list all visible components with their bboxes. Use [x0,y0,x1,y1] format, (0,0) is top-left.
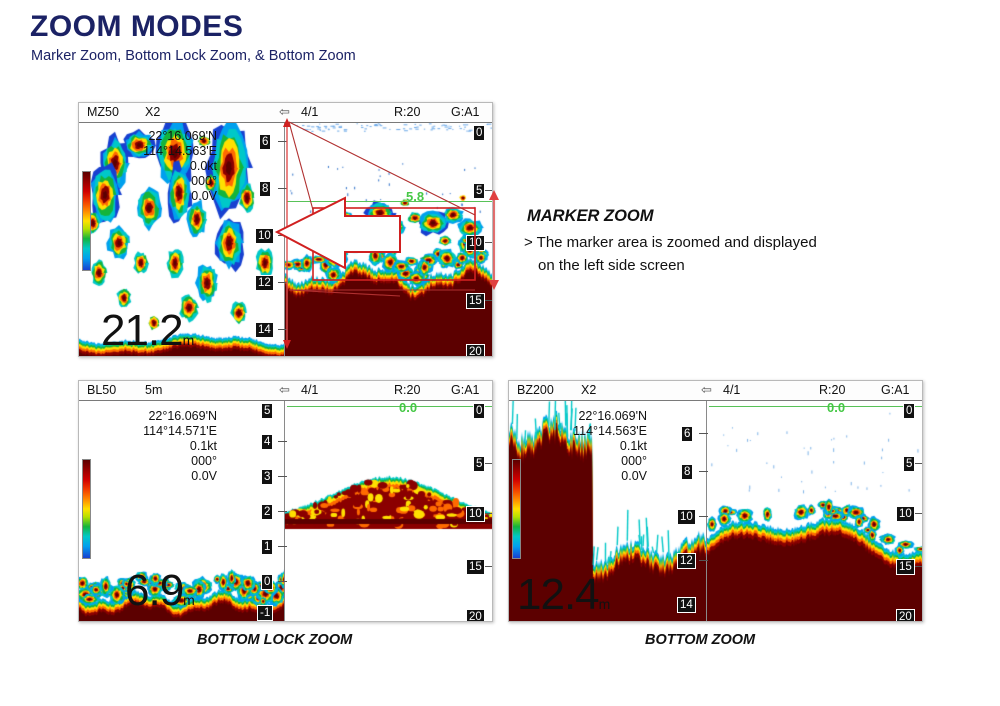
heading-value: 000° [97,174,217,189]
scale-label: -1 [257,605,273,621]
range-label: R:20 [394,105,420,119]
depth-value: 12.4 [517,570,599,619]
scale-label: 2 [261,504,273,520]
unit-header: MZ50 X2 ⇦ 4/1 R:20 G:A1 [79,103,492,123]
gain-label: G:A1 [451,105,480,119]
scale-label: 20 [896,609,915,622]
split-label: 4/1 [301,105,318,119]
scale-label: 0 [473,125,485,141]
depth-readout: 12.4m [517,573,609,622]
depth-unit: m [183,592,194,608]
latitude-value: 22°16.069'N [97,409,217,424]
left-arrow-icon[interactable]: ⇦ [279,104,290,120]
zoom-label: X2 [581,383,596,397]
normal-pane[interactable] [284,123,492,356]
scale-label: 0 [473,403,485,419]
echogram-normal[interactable] [707,401,922,621]
longitude-value: 114°14.563'E [527,424,647,439]
scale-label: 12 [677,553,696,569]
normal-pane[interactable] [706,401,922,621]
speed-value: 0.1kt [527,439,647,454]
left-arrow-icon[interactable]: ⇦ [279,382,290,398]
scale-label: 5 [473,183,485,199]
unit-panes: 22°16.069'N 114°14.563'E 0.1kt 000° 0.0V… [509,401,922,621]
scale-label: 14 [255,322,274,338]
split-label: 4/1 [301,383,318,397]
scale-label: 20 [466,344,485,357]
zoom-label: X2 [145,105,160,119]
echogram-normal[interactable] [285,401,492,621]
marker-value: 0.0 [827,400,845,415]
depth-unit: m [183,332,194,348]
scale-label: 10 [896,506,915,522]
depth-readout: 6.9m [125,569,194,622]
annotation-line-2: on the left side screen [524,254,904,277]
scale-label: 8 [259,181,271,197]
annotation-title: MARKER ZOOM [527,207,654,226]
heading-value: 000° [97,454,217,469]
color-scale-bar [82,459,91,559]
nav-readout: 22°16.069'N 114°14.563'E 0.0kt 000° 0.0V [97,129,217,204]
marker-line [709,406,923,407]
page-title: ZOOM MODES [30,10,243,44]
scale-label: 20 [466,609,485,622]
echogram-normal[interactable] [285,123,492,356]
marker-line [287,201,493,202]
marker-line [287,406,493,407]
scale-label: 6 [259,134,271,150]
caption-bottom-zoom: BOTTOM ZOOM [645,632,755,648]
scale-label: 15 [466,293,485,309]
mode-label: BL50 [87,383,116,397]
latitude-value: 22°16.069'N [527,409,647,424]
range-label: R:20 [394,383,420,397]
longitude-value: 114°14.571'E [97,424,217,439]
scale-label: 15 [896,559,915,575]
mode-label: BZ200 [517,383,554,397]
depth-value: 21.2 [101,306,183,355]
bottom-zoom-unit[interactable]: BZ200 X2 ⇦ 4/1 R:20 G:A1 22°16.069'N 114… [508,380,923,622]
scale-label: 3 [261,469,273,485]
annotation-line-1: > The marker area is zoomed and displaye… [524,231,904,254]
scale-label: 0 [903,403,915,419]
nav-readout: 22°16.069'N 114°14.571'E 0.1kt 000° 0.0V [97,409,217,484]
scale-label: 12 [255,275,274,291]
depth-unit: m [599,596,610,612]
voltage-value: 0.0V [527,469,647,484]
mode-label: MZ50 [87,105,119,119]
depth-value: 6.9 [125,566,183,615]
heading-value: 000° [527,454,647,469]
scale-label: 0 [261,574,273,590]
scale-label: 5 [903,456,915,472]
scale-label: 10 [466,506,485,522]
split-label: 4/1 [723,383,740,397]
scale-label: 5 [261,403,273,419]
zoom-label: 5m [145,383,162,397]
nav-readout: 22°16.069'N 114°14.563'E 0.1kt 000° 0.0V [527,409,647,484]
marker-value: 0.0 [399,400,417,415]
marker-value: 5.8 [406,189,424,204]
color-scale-bar [512,459,521,559]
speed-value: 0.1kt [97,439,217,454]
scale-label: 8 [681,464,693,480]
speed-value: 0.0kt [97,159,217,174]
latitude-value: 22°16.069'N [97,129,217,144]
scale-label: 15 [466,559,485,575]
scale-label: 4 [261,434,273,450]
scale-label: 10 [255,228,274,244]
voltage-value: 0.0V [97,189,217,204]
unit-header: BL50 5m ⇦ 4/1 R:20 G:A1 [79,381,492,401]
gain-label: G:A1 [451,383,480,397]
depth-readout: 21.2m [101,309,193,357]
scale-label: 10 [677,509,696,525]
page-subtitle: Marker Zoom, Bottom Lock Zoom, & Bottom … [31,48,356,64]
caption-bottom-lock-zoom: BOTTOM LOCK ZOOM [197,632,352,648]
scale-label: 1 [261,539,273,555]
scale-label: 5 [473,456,485,472]
longitude-value: 114°14.563'E [97,144,217,159]
unit-panes: 22°16.069'N 114°14.563'E 0.0kt 000° 0.0V… [79,123,492,356]
color-scale-bar [82,171,91,271]
scale-label: 14 [677,597,696,613]
annotation-body: > The marker area is zoomed and displaye… [524,231,904,277]
unit-panes: 22°16.069'N 114°14.571'E 0.1kt 000° 0.0V… [79,401,492,621]
left-arrow-icon[interactable]: ⇦ [701,382,712,398]
normal-pane[interactable] [284,401,492,621]
scale-label: 10 [466,235,485,251]
unit-header: BZ200 X2 ⇦ 4/1 R:20 G:A1 [509,381,922,401]
voltage-value: 0.0V [97,469,217,484]
bottom-lock-zoom-unit[interactable]: BL50 5m ⇦ 4/1 R:20 G:A1 22°16.069'N 114°… [78,380,493,622]
gain-label: G:A1 [881,383,910,397]
marker-zoom-unit[interactable]: MZ50 X2 ⇦ 4/1 R:20 G:A1 22°16.069'N 114°… [78,102,493,357]
scale-label: 6 [681,426,693,442]
range-label: R:20 [819,383,845,397]
